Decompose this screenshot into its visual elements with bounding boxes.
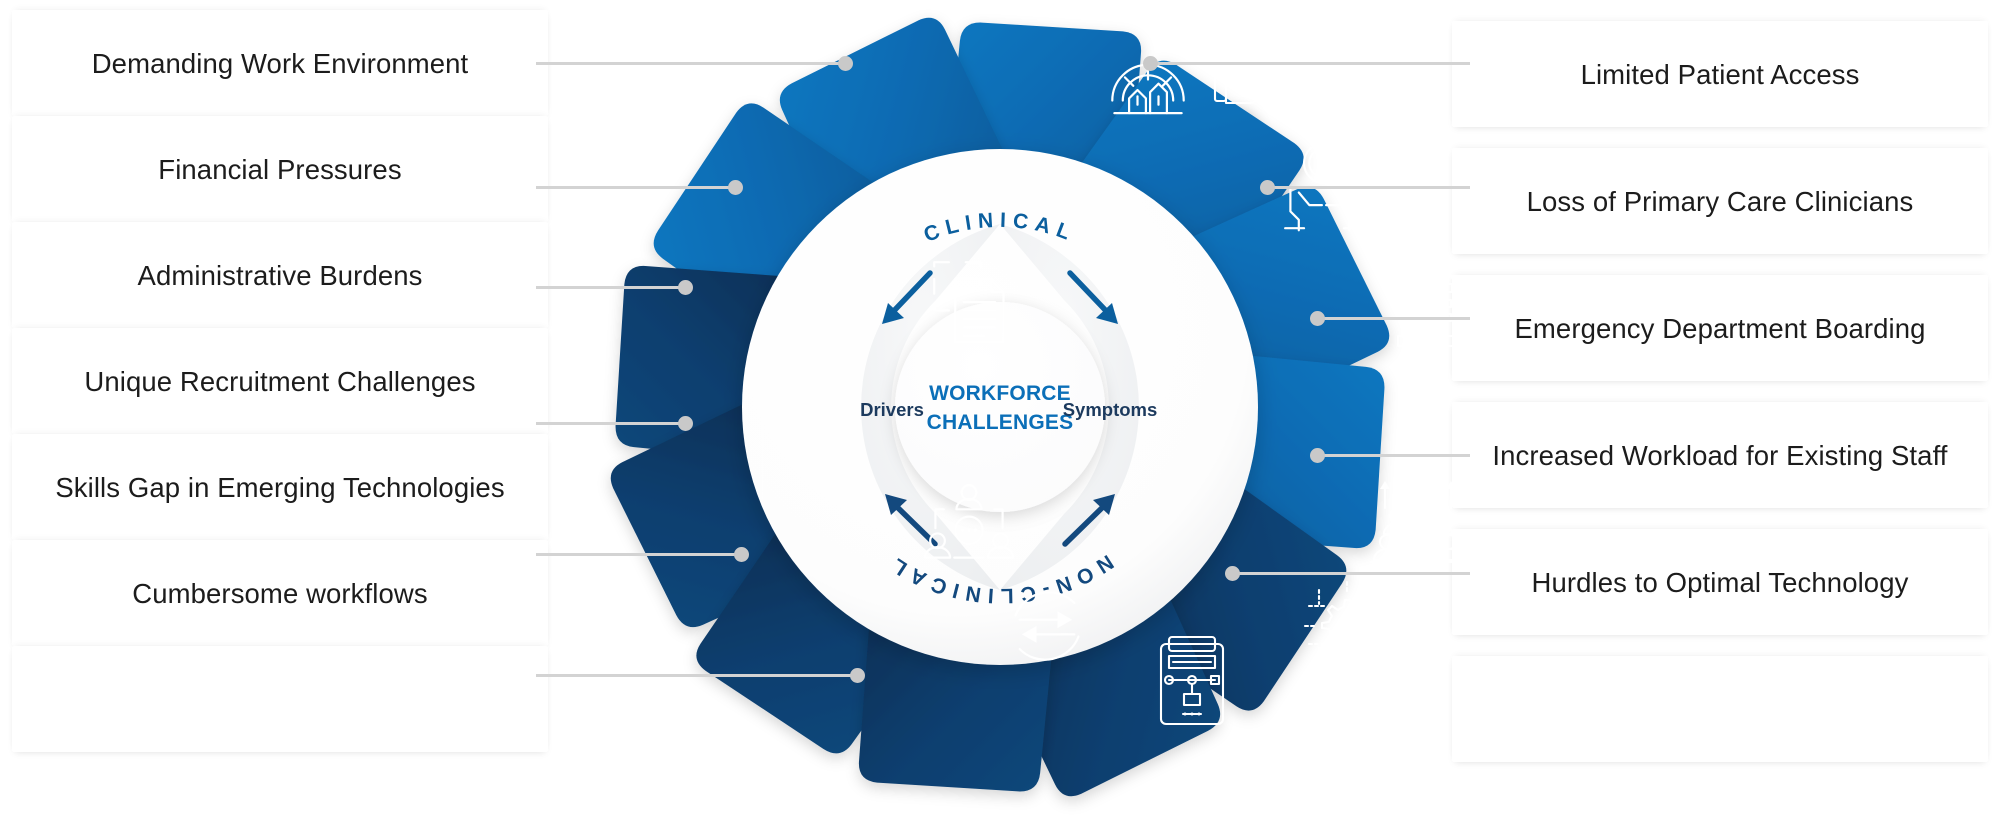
symptom-label-1: Limited Patient Access [1581, 58, 1860, 91]
connector-dot-symptom-1 [1143, 56, 1158, 71]
thumbs-up-down-icon [1215, 51, 1302, 103]
center-title-line1: WORKFORCE [929, 382, 1071, 405]
connector-line-symptom-2 [1267, 186, 1470, 189]
connector-dot-driver-6 [850, 668, 865, 683]
connector-line-driver-1 [536, 62, 846, 65]
symptom-label-2: Loss of Primary Care Clinicians [1527, 185, 1914, 218]
hub-label-symptoms: Symptoms [1063, 399, 1158, 420]
connector-dot-driver-3 [678, 280, 693, 295]
driver-label-6: Cumbersome workflows [132, 577, 427, 610]
driver-label-2: Financial Pressures [158, 153, 401, 186]
symptom-label-5: Hurdles to Optimal Technology [1532, 566, 1909, 599]
driver-label-5: Skills Gap in Emerging Technologies [55, 471, 504, 504]
hospital-building-icon [1398, 264, 1482, 346]
connector-line-symptom-5 [1232, 572, 1470, 575]
connector-line-driver-3 [536, 286, 686, 289]
driver-label-4: Unique Recruitment Challenges [84, 365, 475, 398]
hub-label-drivers: Drivers [860, 399, 924, 420]
connector-line-symptom-3 [1317, 317, 1470, 320]
connector-line-driver-2 [536, 186, 736, 189]
connector-line-driver-6 [536, 674, 858, 677]
driver-label-1: Demanding Work Environment [92, 47, 469, 80]
connector-dot-driver-5 [734, 547, 749, 562]
center-title-line2: CHALLENGES [927, 411, 1074, 434]
infographic-canvas: Demanding Work Environment Financial Pre… [0, 0, 2000, 814]
connector-line-symptom-4 [1317, 454, 1470, 457]
hand-medical-cross-icon [1342, 138, 1405, 220]
connector-dot-driver-2 [728, 180, 743, 195]
crowd-up-arrows-icon [1371, 481, 1465, 562]
driver-label-3: Administrative Burdens [138, 259, 423, 292]
symptom-label-3: Emergency Department Boarding [1514, 312, 1925, 345]
connector-line-driver-4 [536, 422, 686, 425]
connector-dot-symptom-4 [1310, 448, 1325, 463]
connector-dot-symptom-5 [1225, 566, 1240, 581]
connector-line-driver-5 [536, 553, 742, 556]
connector-dot-driver-4 [678, 416, 693, 431]
connector-dot-symptom-2 [1260, 180, 1275, 195]
workforce-challenges-wheel: WORKFORCE CHALLENGES Drivers Symptoms CL… [430, 0, 1570, 822]
symptom-label-4: Increased Workload for Existing Staff [1492, 439, 1947, 472]
connector-dot-driver-1 [838, 56, 853, 71]
connector-line-symptom-1 [1150, 62, 1470, 65]
connector-dot-symptom-3 [1310, 311, 1325, 326]
